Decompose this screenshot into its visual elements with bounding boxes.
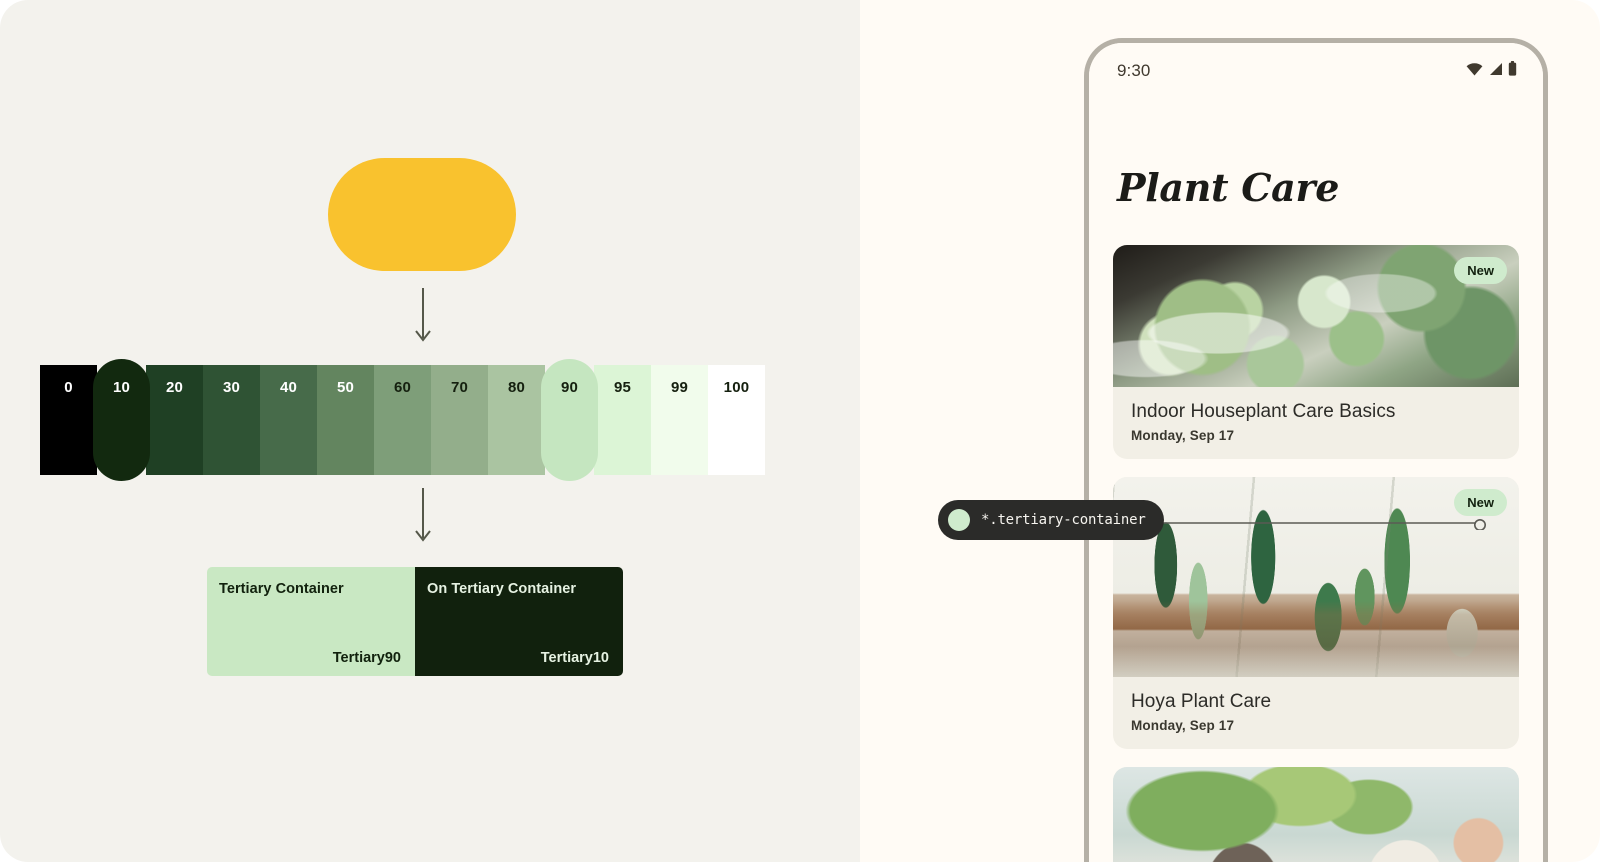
- tone-swatch-label: 10: [93, 379, 150, 396]
- tone-swatch-0[interactable]: 0: [40, 365, 97, 475]
- wifi-icon: [1466, 62, 1483, 81]
- tone-swatch-40[interactable]: 40: [260, 365, 317, 475]
- card-image: New: [1113, 477, 1519, 677]
- tone-swatch-label: 95: [594, 379, 651, 396]
- tone-swatch-10[interactable]: 10: [93, 359, 150, 481]
- tone-swatch-label: 20: [146, 379, 203, 396]
- role-name: On Tertiary Container: [427, 581, 609, 597]
- card-body: Indoor Houseplant Care BasicsMonday, Sep…: [1113, 387, 1519, 459]
- tone-swatch-label: 0: [40, 379, 97, 396]
- phone-frame: 9:30: [1084, 38, 1548, 862]
- tone-swatch-80[interactable]: 80: [488, 365, 545, 475]
- tone-swatch-label: 50: [317, 379, 374, 396]
- tone-swatch-label: 70: [431, 379, 488, 396]
- tone-swatch-label: 99: [651, 379, 708, 396]
- card-subtitle: Monday, Sep 17: [1131, 428, 1501, 443]
- color-system-panel: 01020304050607080909599100 Tertiary Cont…: [0, 0, 860, 862]
- tone-swatch-50[interactable]: 50: [317, 365, 374, 475]
- role-tone-label: Tertiary90: [333, 650, 401, 666]
- tone-swatch-label: 90: [541, 379, 598, 396]
- new-badge[interactable]: New: [1454, 257, 1507, 284]
- tone-swatch-99[interactable]: 99: [651, 365, 708, 475]
- new-badge[interactable]: New: [1454, 489, 1507, 516]
- card-title: Hoya Plant Care: [1131, 691, 1501, 713]
- role-name: Tertiary Container: [219, 581, 401, 597]
- card-subtitle: Monday, Sep 17: [1131, 718, 1501, 733]
- tone-swatch-label: 60: [374, 379, 431, 396]
- card-image: [1113, 767, 1519, 862]
- tonal-palette[interactable]: 01020304050607080909599100: [40, 365, 765, 475]
- source-color-swatch: [328, 158, 516, 271]
- role-swatch-on-tertiary-container[interactable]: On Tertiary ContainerTertiary10: [415, 567, 623, 676]
- status-time: 9:30: [1117, 61, 1151, 81]
- card-image: New: [1113, 245, 1519, 387]
- plant-care-card[interactable]: NewIndoor Houseplant Care BasicsMonday, …: [1113, 245, 1519, 459]
- card-body: Hoya Plant CareMonday, Sep 17: [1113, 677, 1519, 749]
- plant-care-card-list: NewIndoor Houseplant Care BasicsMonday, …: [1113, 245, 1519, 862]
- phone-screen: 9:30: [1089, 43, 1543, 862]
- photo-watering-image: [1113, 767, 1519, 862]
- tone-swatch-70[interactable]: 70: [431, 365, 488, 475]
- tone-swatch-label: 40: [260, 379, 317, 396]
- tone-swatch-label: 80: [488, 379, 545, 396]
- role-swatch-tertiary-container[interactable]: Tertiary ContainerTertiary90: [207, 567, 415, 676]
- tone-swatch-95[interactable]: 95: [594, 365, 651, 475]
- card-title: Indoor Houseplant Care Basics: [1131, 401, 1501, 423]
- tone-swatch-label: 30: [203, 379, 260, 396]
- status-bar: 9:30: [1089, 43, 1543, 99]
- role-tone-label: Tertiary10: [541, 650, 609, 666]
- page-root: 01020304050607080909599100 Tertiary Cont…: [0, 0, 1600, 862]
- battery-icon: [1508, 61, 1517, 81]
- tertiary-container-annotation-chip[interactable]: *.tertiary-container: [938, 500, 1164, 540]
- device-preview-panel: 9:30: [860, 0, 1600, 862]
- plant-care-card[interactable]: [1113, 767, 1519, 862]
- tone-swatch-label: 100: [708, 379, 765, 396]
- arrow-down-icon-2: [411, 488, 435, 546]
- color-dot-icon: [948, 509, 970, 531]
- tone-swatch-20[interactable]: 20: [146, 365, 203, 475]
- page-title: Plant Care: [1117, 165, 1339, 210]
- tone-swatch-30[interactable]: 30: [203, 365, 260, 475]
- tertiary-container-roles: Tertiary ContainerTertiary90On Tertiary …: [207, 567, 623, 676]
- annotation-label: *.tertiary-container: [981, 512, 1146, 528]
- arrow-down-icon-1: [411, 288, 435, 346]
- tone-swatch-100[interactable]: 100: [708, 365, 765, 475]
- tone-swatch-90[interactable]: 90: [541, 359, 598, 481]
- cellular-signal-icon: [1488, 62, 1503, 81]
- tone-swatch-60[interactable]: 60: [374, 365, 431, 475]
- status-icons: [1466, 61, 1517, 81]
